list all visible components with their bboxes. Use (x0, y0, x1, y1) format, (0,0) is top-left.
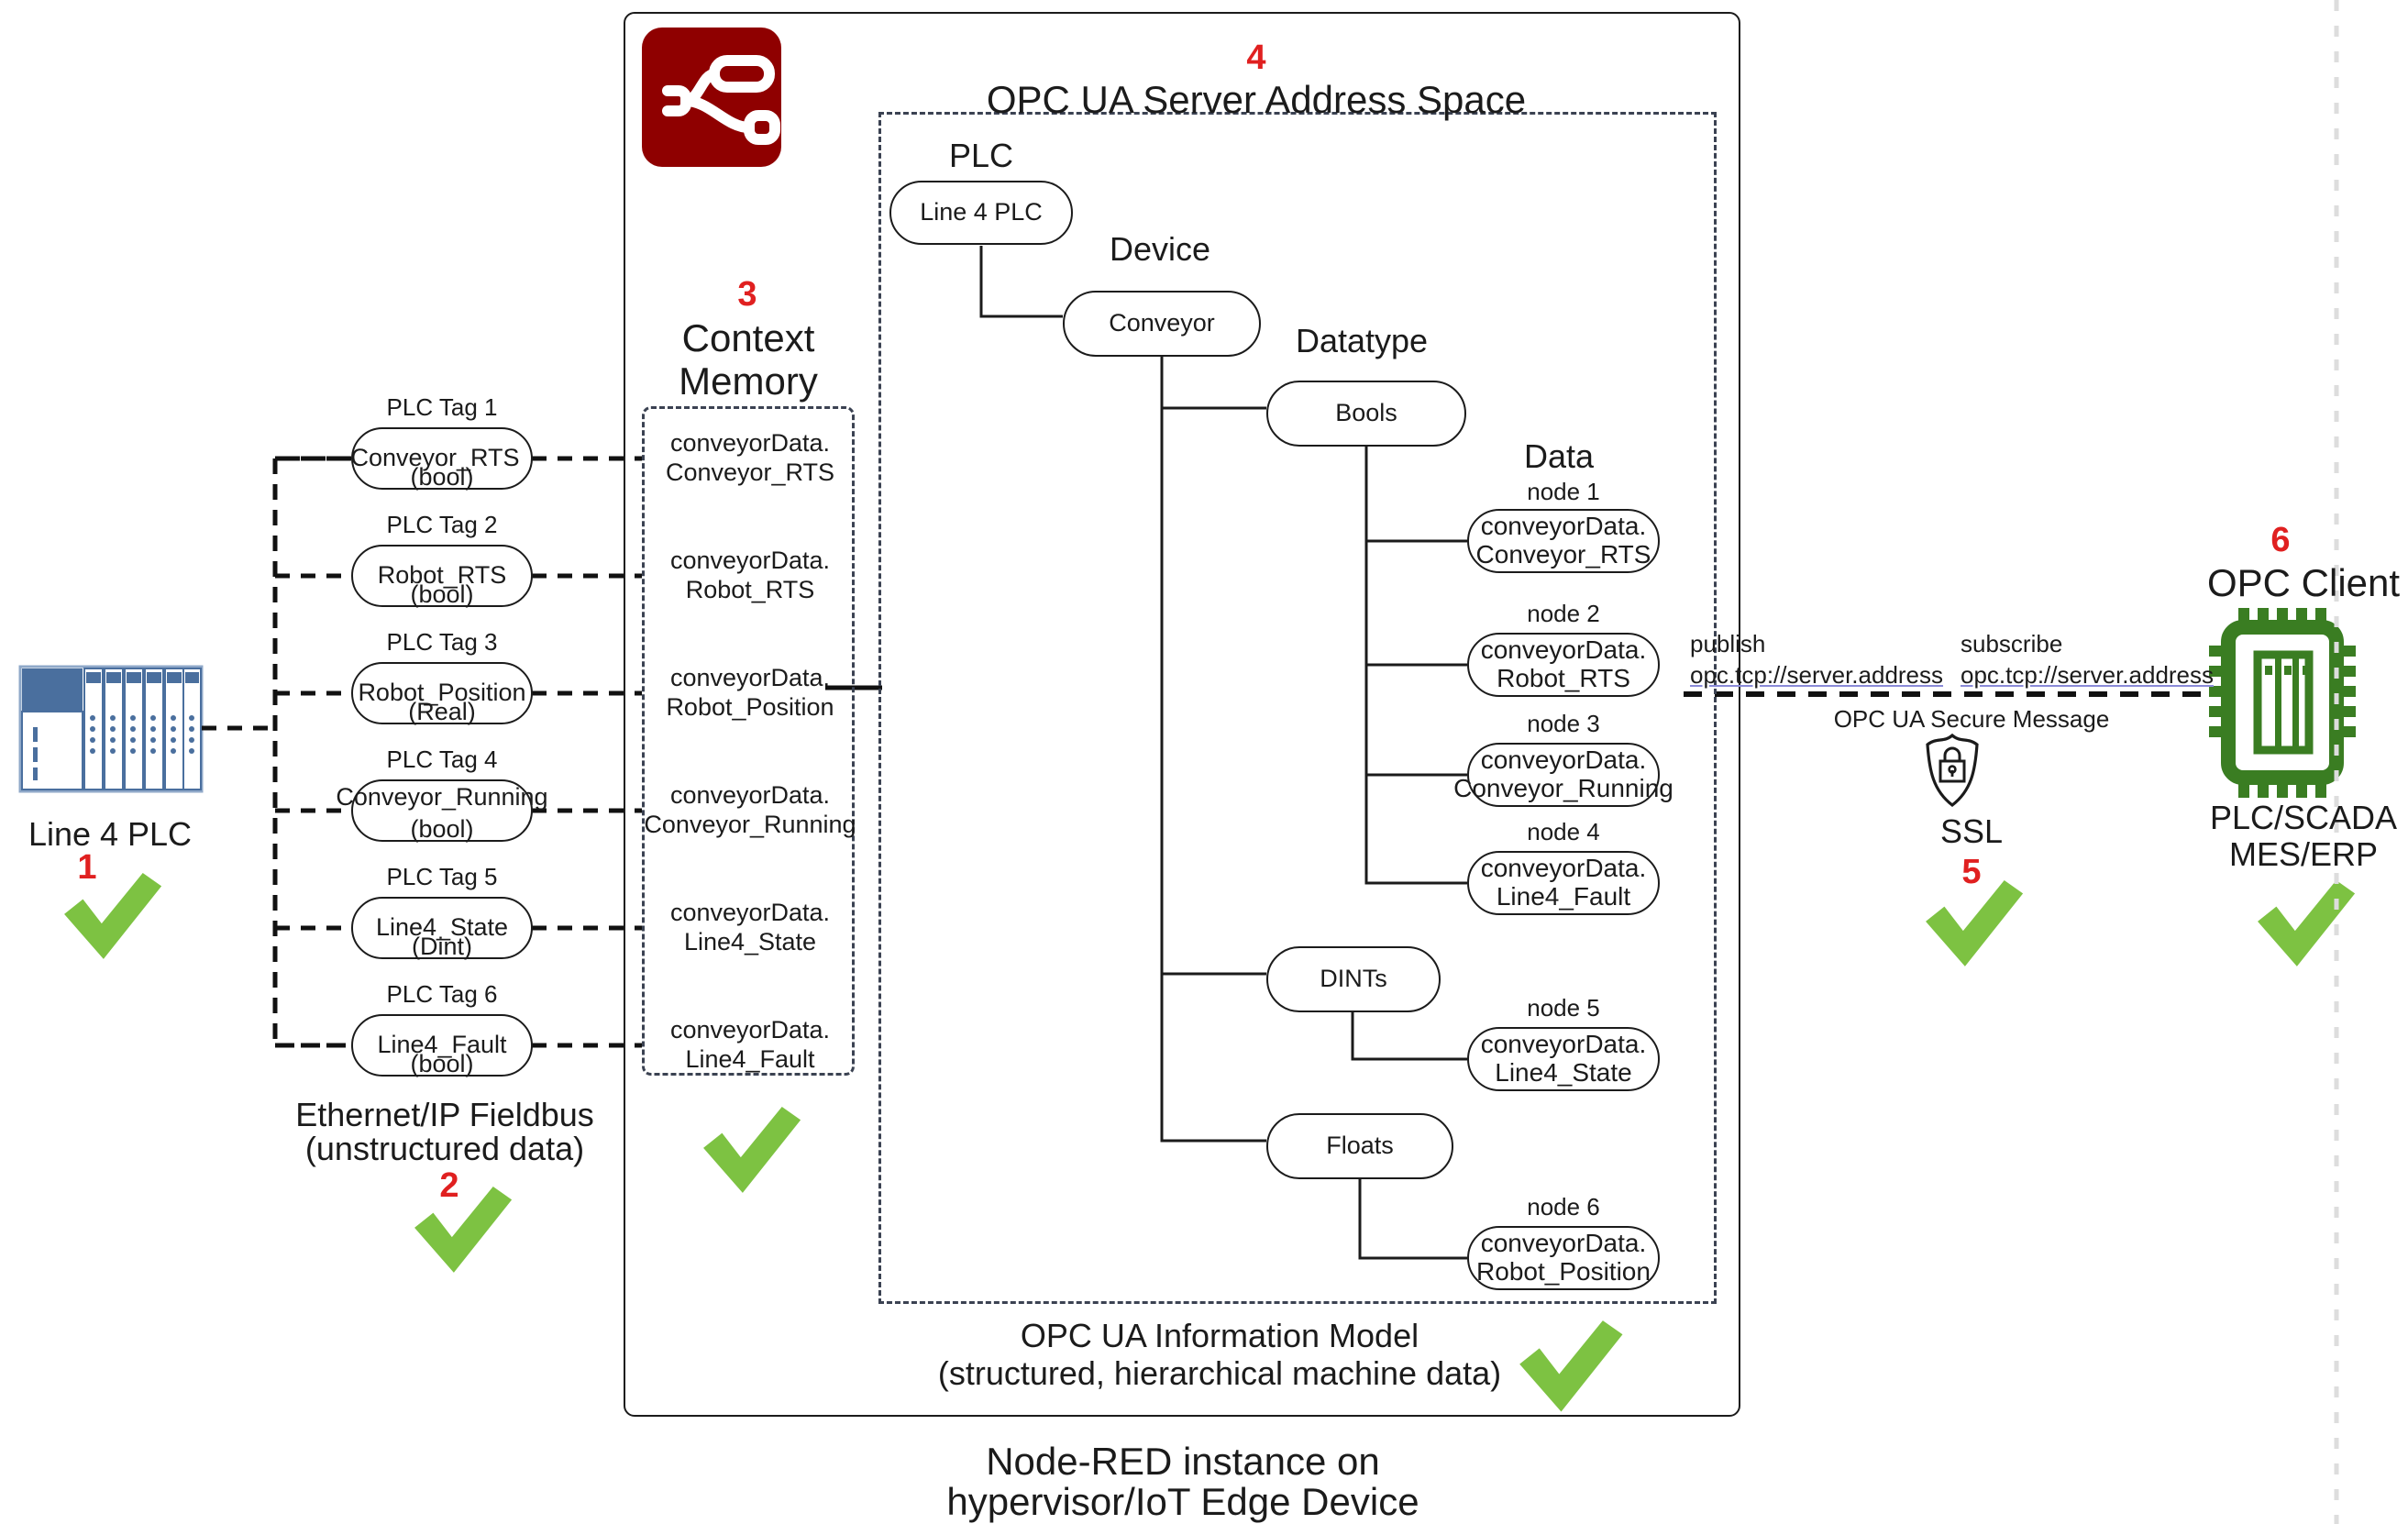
plc-tag-6-type: (bool) (351, 1050, 533, 1077)
data-node-5-pill[interactable]: conveyorData. Line4_State (1467, 1027, 1660, 1091)
information-model-caption-line2: (structured, hierarchical machine data) (935, 1355, 1504, 1392)
address-space-node-dints[interactable]: DINTs (1266, 946, 1441, 1012)
data-node-2-pill[interactable]: conveyorData. Robot_RTS (1467, 633, 1660, 697)
check-5-icon (1926, 880, 2023, 966)
context-memory-entry-3-line2: Robot_Position (647, 693, 853, 721)
address-space-node-device[interactable]: Conveyor (1063, 291, 1261, 357)
data-node-4-line1: conveyorData. (1481, 855, 1647, 883)
node-red-footer-line1: Node-RED instance on (917, 1440, 1449, 1483)
address-space-node-floats-label: Floats (1326, 1132, 1394, 1160)
data-node-6-label: node 6 (1467, 1194, 1660, 1220)
level-label-device: Device (1077, 231, 1243, 268)
address-space-node-plc-label: Line 4 PLC (920, 199, 1043, 226)
plc-tag-3-type: (Real) (351, 698, 533, 725)
data-node-2-line1: conveyorData. (1481, 636, 1647, 665)
data-node-4-label: node 4 (1467, 819, 1660, 845)
plc-tag-4-type: (bool) (351, 815, 533, 843)
context-memory-entry-1-line1: conveyorData. (647, 429, 853, 457)
shield-lock-icon (1928, 735, 1977, 805)
level-label-plc: PLC (903, 138, 1059, 174)
data-node-1-line2: Conveyor_RTS (1476, 541, 1651, 569)
context-memory-entry-3-line1: conveyorData. (647, 664, 853, 691)
plc-tag-1-type: (bool) (351, 463, 533, 491)
address-space-node-dints-label: DINTs (1320, 966, 1387, 993)
fieldbus-caption-line1: Ethernet/IP Fieldbus (284, 1097, 605, 1133)
context-memory-entry-1-line2: Conveyor_RTS (647, 458, 853, 486)
node-red-footer-line2: hypervisor/IoT Edge Device (917, 1480, 1449, 1523)
node-red-logo (642, 28, 781, 167)
data-node-4-line2: Line4_Fault (1497, 883, 1630, 911)
data-node-1-label: node 1 (1467, 479, 1660, 505)
context-memory-entry-2-line2: Robot_RTS (647, 576, 853, 603)
data-node-1-pill[interactable]: conveyorData. Conveyor_RTS (1467, 509, 1660, 573)
step-number-3: 3 (724, 275, 770, 315)
context-memory-entry-4-line1: conveyorData. (647, 781, 853, 809)
context-memory-entry-2-line1: conveyorData. (647, 547, 853, 574)
plc-rack-icon (20, 667, 202, 791)
data-node-2-label: node 2 (1467, 601, 1660, 627)
data-node-3-line2: Conveyor_Running (1453, 775, 1673, 803)
subscribe-address[interactable]: opc.tcp://server.address (1961, 662, 2217, 689)
diagram-canvas: Line 4 PLC 1 PLC Tag 1 Conveyor_RTS (boo… (0, 0, 2408, 1524)
data-node-3-pill[interactable]: conveyorData. Conveyor_Running (1467, 743, 1660, 807)
data-node-3-line1: conveyorData. (1481, 746, 1647, 775)
publish-label: publish (1690, 631, 1855, 657)
opc-client-caption-line2: MES/ERP (2199, 836, 2408, 873)
context-memory-title-line2: Memory (642, 359, 855, 403)
address-space-title: OPC UA Server Address Space (917, 78, 1596, 121)
step-number-6: 6 (2258, 521, 2303, 560)
address-space-node-bools-label: Bools (1335, 400, 1397, 427)
data-node-6-line1: conveyorData. (1481, 1230, 1647, 1258)
address-space-node-plc[interactable]: Line 4 PLC (889, 181, 1073, 245)
data-node-6-pill[interactable]: conveyorData. Robot_Position (1467, 1226, 1660, 1290)
level-label-datatype: Datatype (1270, 323, 1453, 359)
secure-message-label: OPC UA Secure Message (1797, 706, 2146, 733)
plc-tag-5-label: PLC Tag 5 (351, 864, 533, 890)
cpu-chip-icon (2209, 608, 2356, 798)
check-6-icon (2258, 880, 2355, 966)
context-memory-title-line1: Context (642, 316, 855, 359)
fieldbus-caption-line2: (unstructured data) (284, 1131, 605, 1167)
subscribe-label: subscribe (1961, 631, 2217, 657)
context-memory-entry-5-line1: conveyorData. (647, 899, 853, 926)
line4-plc-label: Line 4 PLC (0, 816, 220, 853)
plc-tag-4-label: PLC Tag 4 (351, 746, 533, 773)
data-node-5-line2: Line4_State (1495, 1059, 1631, 1088)
plc-tag-6-label: PLC Tag 6 (351, 981, 533, 1008)
data-node-5-label: node 5 (1467, 995, 1660, 1022)
step-number-2: 2 (426, 1166, 472, 1206)
data-node-4-pill[interactable]: conveyorData. Line4_Fault (1467, 851, 1660, 915)
plc-tag-2-type: (bool) (351, 580, 533, 608)
data-node-1-line1: conveyorData. (1481, 513, 1647, 541)
level-label-data: Data (1467, 438, 1651, 475)
step-number-5: 5 (1949, 853, 1994, 892)
address-space-node-floats[interactable]: Floats (1266, 1113, 1453, 1179)
plc-tag-5-type: (Dint) (351, 933, 533, 960)
address-space-node-bools[interactable]: Bools (1266, 381, 1466, 447)
opc-client-caption-line1: PLC/SCADA (2199, 800, 2408, 836)
ssl-label: SSL (1889, 813, 2054, 850)
step-number-1: 1 (64, 848, 110, 888)
data-node-3-label: node 3 (1467, 711, 1660, 737)
plc-tag-2-label: PLC Tag 2 (351, 512, 533, 538)
publish-address[interactable]: opc.tcp://server.address (1690, 662, 1947, 689)
step-number-4: 4 (1233, 39, 1279, 78)
context-memory-box (642, 406, 855, 1076)
context-memory-entry-6-line2: Line4_Fault (647, 1045, 853, 1073)
context-memory-entry-4-line2: Conveyor_Running (642, 811, 858, 838)
address-space-node-device-label: Conveyor (1109, 310, 1215, 337)
plc-tag-3-label: PLC Tag 3 (351, 629, 533, 656)
data-node-6-line2: Robot_Position (1476, 1258, 1651, 1287)
information-model-caption-line1: OPC UA Information Model (935, 1318, 1504, 1354)
data-node-2-line2: Robot_RTS (1497, 665, 1630, 693)
context-memory-entry-5-line2: Line4_State (647, 928, 853, 955)
context-memory-entry-6-line1: conveyorData. (647, 1016, 853, 1044)
opc-client-title: OPC Client (2199, 561, 2408, 604)
data-node-5-line1: conveyorData. (1481, 1031, 1647, 1059)
plc-tag-1-label: PLC Tag 1 (351, 394, 533, 421)
plc-tag-4-name: Conveyor_Running (336, 784, 547, 812)
